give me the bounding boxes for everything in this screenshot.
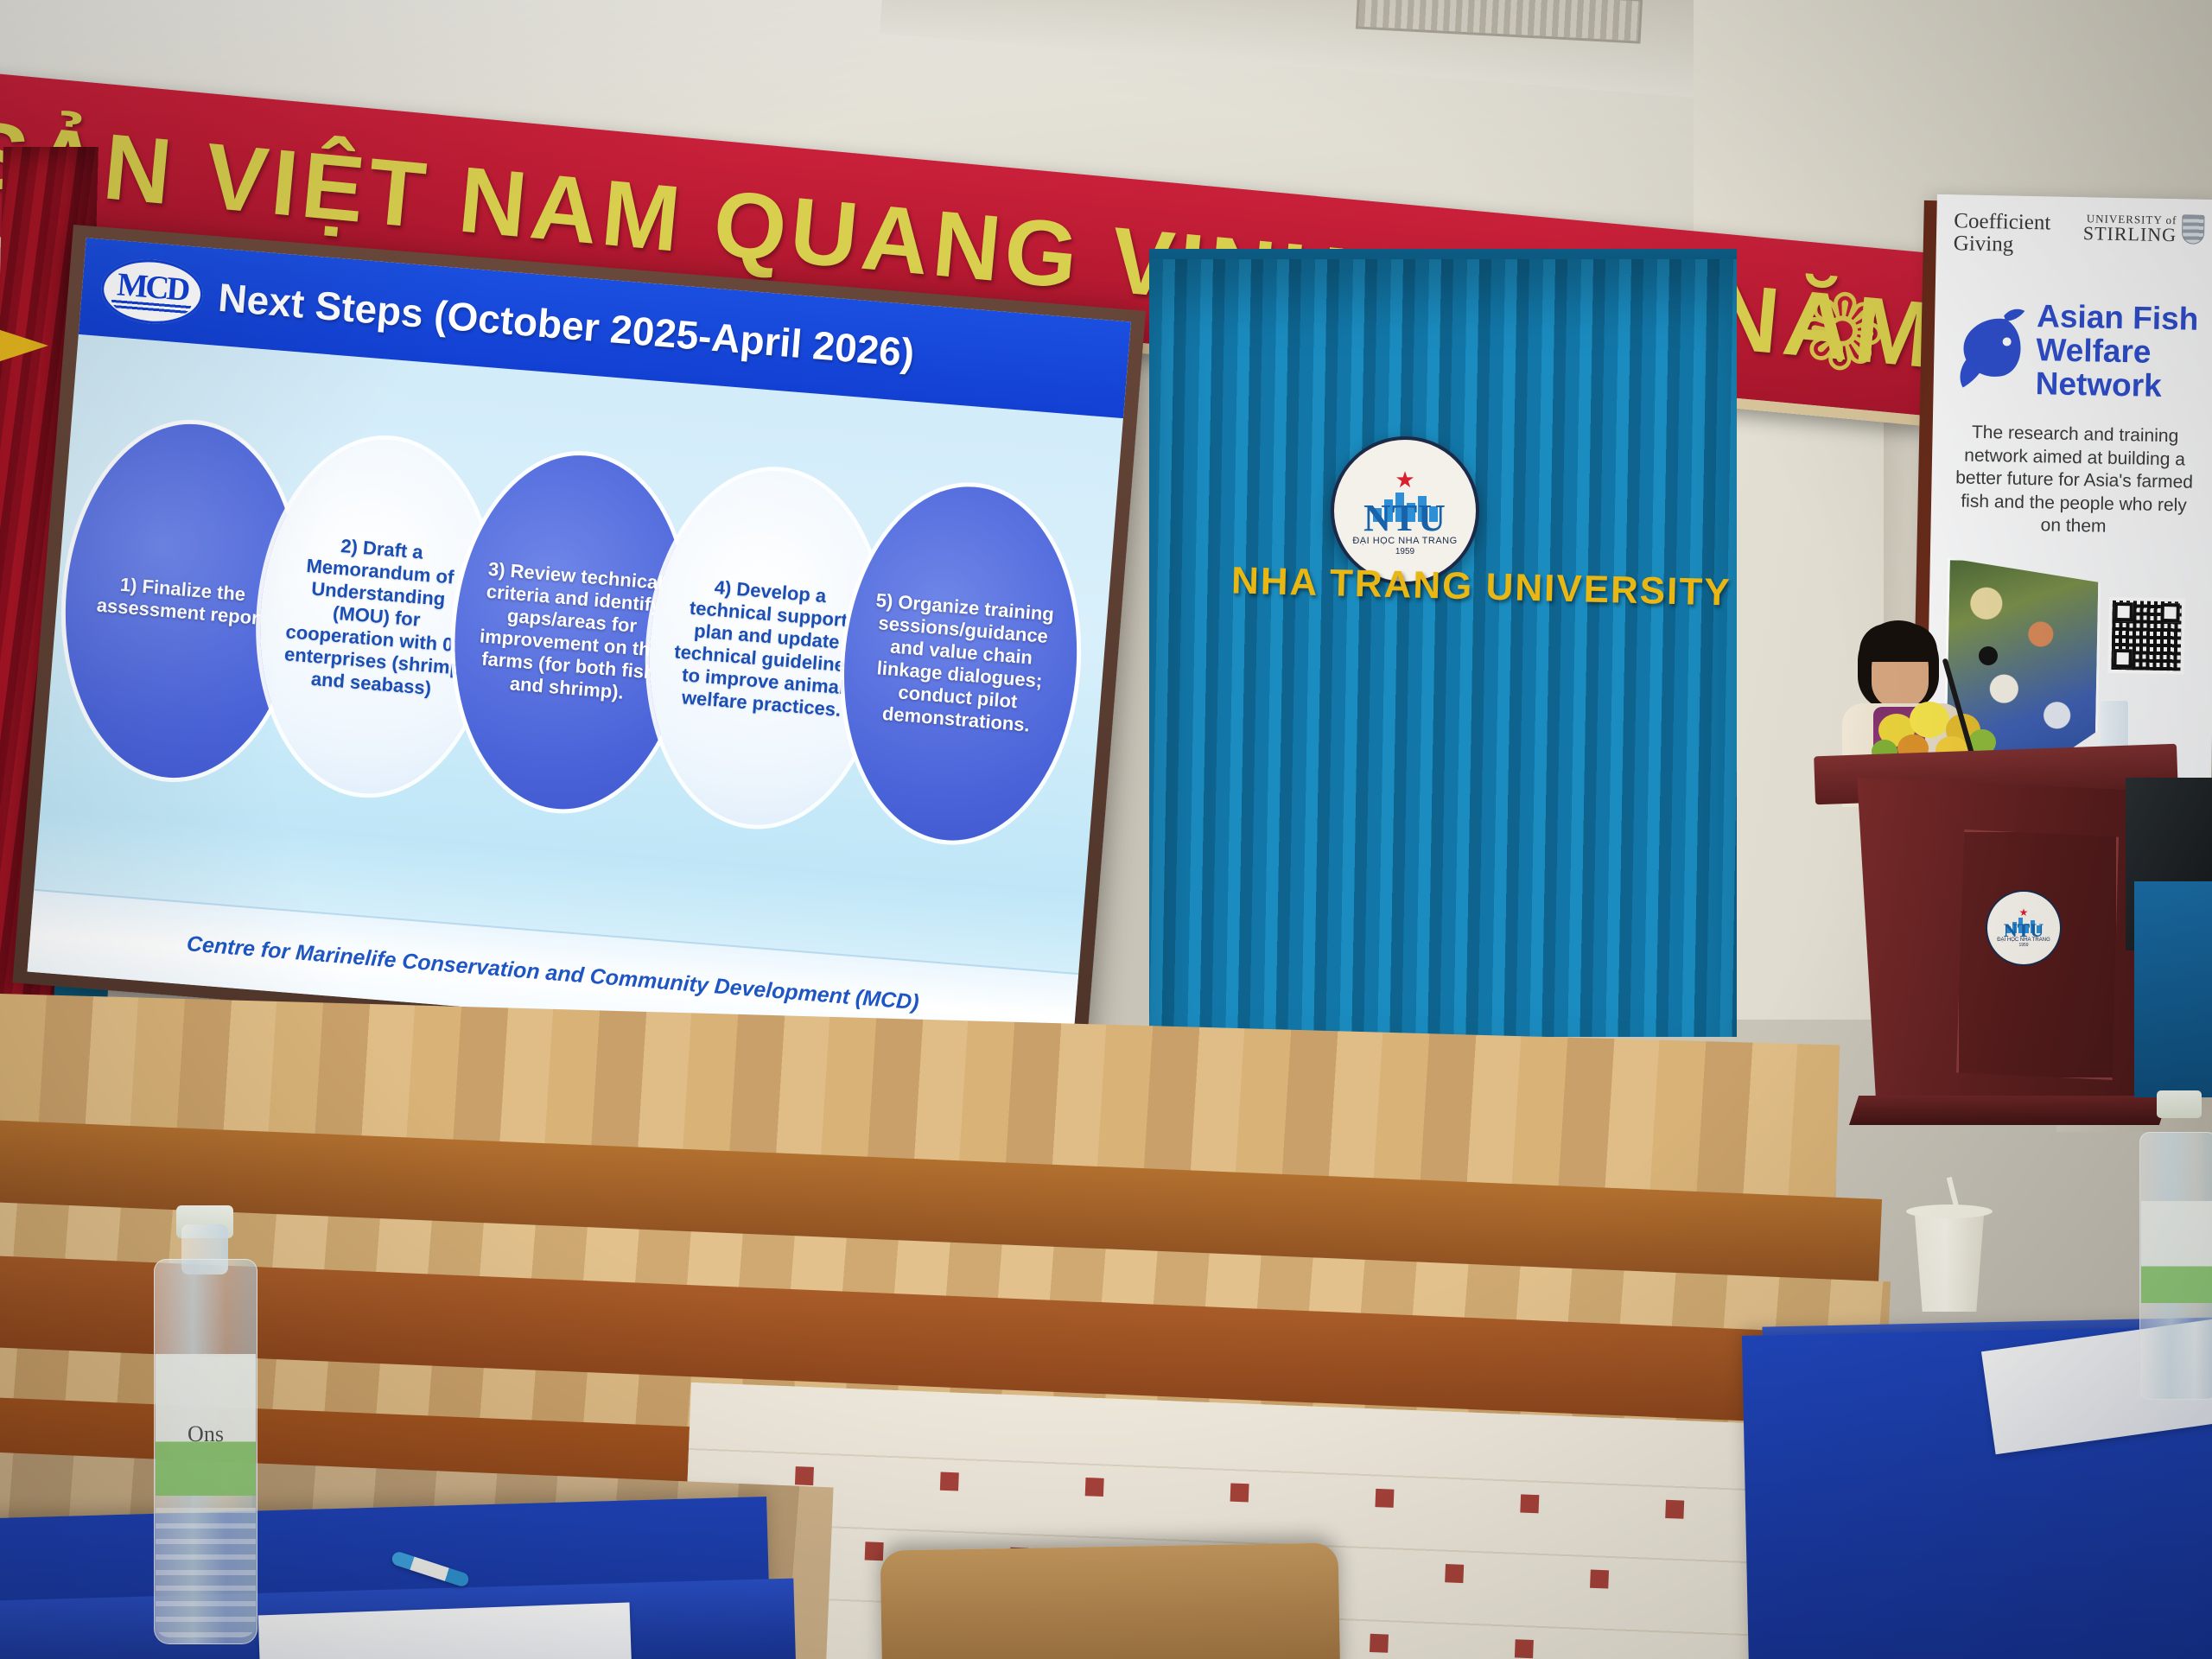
presenter-fringe [1859, 624, 1937, 662]
bottle-right-label [2141, 1201, 2212, 1303]
podium-ntu-seal-icon: ★ NTU ĐẠI HỌC NHA TRANG 1959 [1986, 890, 2062, 966]
funder-name: Coefficient Giving [1954, 210, 2084, 257]
mcd-logo-icon: MCD [99, 256, 206, 327]
partner-logo: UNIVERSITY of STIRLING [2083, 213, 2205, 245]
partner-line-2: STIRLING [2083, 224, 2177, 245]
podium-seal-year: 1959 [2018, 943, 2028, 948]
water-bottle-right [2134, 1090, 2212, 1402]
paper-cup [1910, 1210, 1989, 1312]
bottle-right-cap-icon [2157, 1090, 2202, 1118]
side-monitor [2134, 881, 2212, 1097]
podium-seal-star-icon: ★ [2019, 909, 2029, 917]
stirling-shield-icon [2182, 214, 2205, 244]
podium-base [1849, 1096, 2169, 1125]
fish-icon [1951, 307, 2027, 391]
foreground-chair [880, 1542, 1341, 1659]
seal-subtitle: ĐẠI HỌC NHA TRANG [1352, 536, 1457, 546]
slide-title: Next Steps (October 2025-April 2026) [217, 274, 917, 377]
step-text-4: 4) Develop a technical support plan and … [664, 573, 868, 722]
step-text-5: 5) Organize training sessions/guidance a… [859, 588, 1063, 738]
microphone-head-icon [1979, 646, 1998, 665]
step-text-2: 2) Draft a Memorandum of Understanding (… [274, 531, 480, 702]
step-text-1: 1) Finalize the assessment report [84, 571, 280, 632]
step-bubble-5: 5) Organize training sessions/guidance a… [831, 478, 1090, 849]
step-text-3: 3) Review technical criteria and identif… [469, 557, 673, 707]
afwn-logo-row: Asian Fish Welfare Network [1950, 297, 2202, 404]
qr-code-icon [2107, 597, 2185, 675]
presentation-slide: MCD Next Steps (October 2025-April 2026)… [27, 238, 1130, 1056]
blue-stage-curtain [1149, 259, 1737, 1037]
partner-name: UNIVERSITY of STIRLING [2083, 213, 2177, 245]
afwn-network-name: Asian Fish Welfare Network [2035, 299, 2202, 404]
bottle-brand-text: Ons [156, 1421, 256, 1447]
conference-room-photo: SẢN VIỆT NAM QUANG VINH MUÔN NĂM ❁ MCD N… [0, 0, 2212, 1659]
seal-star-icon: ★ [1395, 472, 1414, 487]
projection-screen: MCD Next Steps (October 2025-April 2026)… [12, 225, 1146, 1069]
next-steps-diagram: 1) Finalize the assessment report 2) Dra… [48, 368, 1122, 899]
afwn-tagline: The research and training network aimed … [1948, 421, 2200, 540]
water-bottle-left: Ons [147, 1205, 264, 1646]
paper-cup-rim [1906, 1205, 1993, 1218]
seal-year: 1959 [1395, 547, 1414, 556]
bottle-ribs [156, 1508, 256, 1637]
seal-letters: NTU [1363, 503, 1446, 534]
lotus-icon: ❁ [1772, 284, 1910, 399]
podium-seal-letters: NTU [2004, 924, 2044, 938]
afwn-banner-header: Coefficient Giving UNIVERSITY of STIRLIN… [1954, 210, 2205, 260]
